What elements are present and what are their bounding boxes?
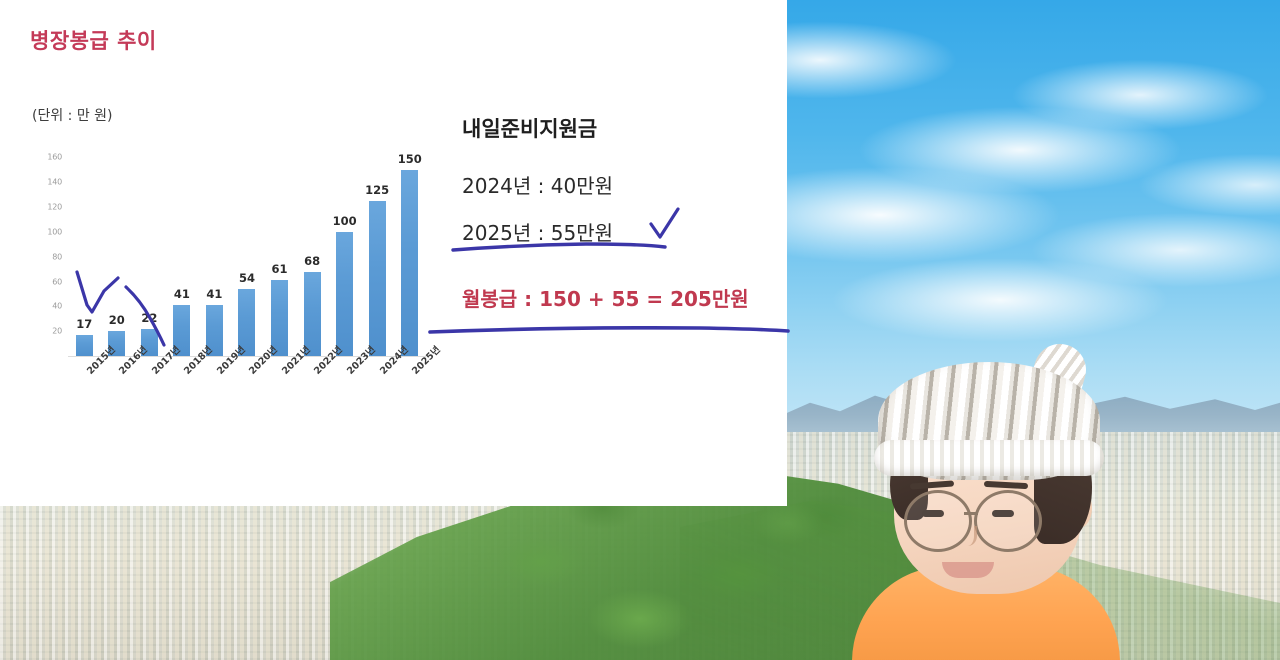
video-frame: 병장봉급 추이 (단위 : 만 원) 20406080100120140160 … [0, 0, 1280, 660]
y-axis-tick: 20 [52, 327, 62, 336]
bar-slot [166, 145, 199, 356]
bar-slot [328, 145, 361, 356]
y-axis: 20406080100120140160 [28, 145, 64, 360]
bar-value-label: 22 [133, 311, 166, 325]
bar-slot [361, 145, 394, 356]
presentation-slide: 병장봉급 추이 (단위 : 만 원) 20406080100120140160 … [0, 0, 787, 506]
bar-slot [198, 145, 231, 356]
webcam-person [838, 370, 1138, 660]
bar-value-label: 125 [361, 183, 394, 197]
bar-slot [393, 145, 426, 356]
nose [958, 526, 977, 546]
chart-bar [401, 170, 418, 356]
mouth [942, 562, 994, 578]
y-axis-tick: 40 [52, 302, 62, 311]
bar-value-label: 100 [328, 214, 361, 228]
beanie-brim [874, 440, 1104, 476]
bar-chart: 20406080100120140160 1720224141546168100… [28, 145, 428, 360]
note-2025: 2025년 : 55만원 [462, 217, 613, 246]
bar-value-label: 17 [68, 317, 101, 331]
note-total-salary: 월봉급 : 150 + 55 = 205만원 [462, 283, 749, 312]
bar-value-label: 41 [166, 287, 199, 301]
glasses-lens-right [974, 490, 1042, 552]
bar-value-label: 68 [296, 254, 329, 268]
slide-title: 병장봉급 추이 [30, 25, 157, 55]
y-axis-tick: 160 [47, 153, 62, 162]
bar-slot [231, 145, 264, 356]
plot-area: 1720224141546168100125150 [68, 145, 426, 357]
bar-value-label: 61 [263, 262, 296, 276]
y-axis-tick: 60 [52, 277, 62, 286]
bar-value-label: 41 [198, 287, 231, 301]
bar-slot [263, 145, 296, 356]
x-axis-labels: 2015년2016년2017년2018년2019년2020년2021년2022년… [68, 359, 426, 419]
glasses-bridge [964, 512, 978, 515]
y-axis-tick: 100 [47, 227, 62, 236]
bar-value-label: 20 [101, 313, 134, 327]
y-axis-tick: 140 [47, 178, 62, 187]
note-2024: 2024년 : 40만원 [462, 170, 613, 199]
note-heading: 내일준비지원금 [462, 113, 597, 143]
bar-value-label: 54 [231, 271, 264, 285]
y-axis-tick: 120 [47, 203, 62, 212]
bar-slot [296, 145, 329, 356]
bar-value-label: 150 [393, 152, 426, 166]
y-axis-tick: 80 [52, 252, 62, 261]
chart-bar [76, 335, 93, 356]
chart-unit-label: (단위 : 만 원) [32, 105, 113, 125]
